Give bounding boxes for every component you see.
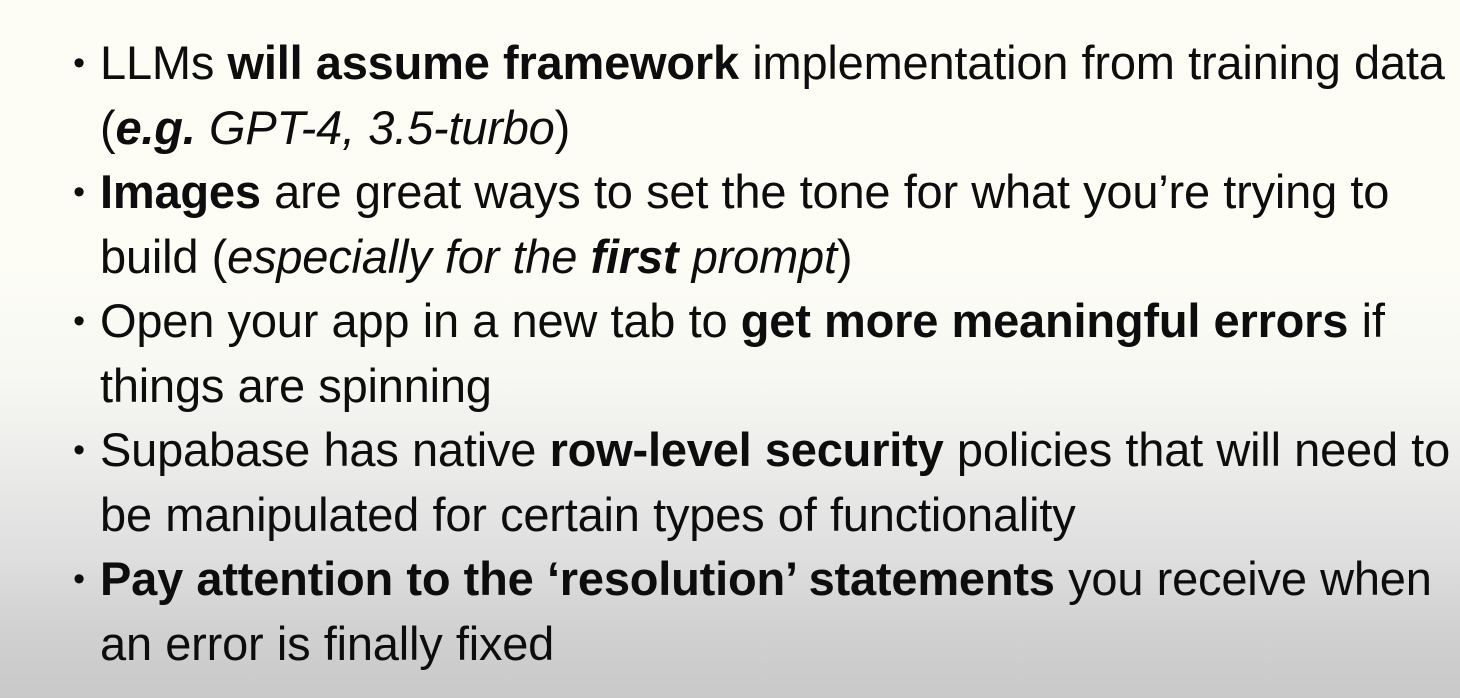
text-run-bold: Images	[100, 165, 261, 218]
text-run-bold: Pay attention to the ‘resolution’ statem…	[100, 552, 1055, 605]
text-run-regular: Supabase has native	[100, 423, 550, 476]
list-item: •Pay attention to the ‘resolution’ state…	[60, 547, 1452, 676]
list-item-text: Images are great ways to set the tone fo…	[100, 160, 1452, 289]
list-item-text: Pay attention to the ‘resolution’ statem…	[100, 547, 1452, 676]
list-item: •Open your app in a new tab to get more …	[60, 289, 1452, 418]
text-run-regular: LLMs	[100, 36, 228, 89]
text-run-regular: Open your app in a new tab to	[100, 294, 741, 347]
bullet-point-icon: •	[68, 547, 90, 612]
text-run-italic: prompt	[678, 230, 836, 283]
text-run-bold-italic: first	[591, 230, 679, 283]
text-run-italic: GPT-4, 3.5-turbo	[196, 101, 555, 154]
text-run-italic: especially for the	[227, 230, 590, 283]
text-run-bold: get more meaningful errors	[741, 294, 1348, 347]
list-item-text: Supabase has native row-level security p…	[100, 418, 1452, 547]
bullet-point-icon: •	[68, 289, 90, 354]
bullet-point-icon: •	[68, 418, 90, 483]
list-item-text: Open your app in a new tab to get more m…	[100, 289, 1452, 418]
list-item: •Supabase has native row-level security …	[60, 418, 1452, 547]
text-run-bold-italic: e.g.	[115, 101, 195, 154]
text-run-bold: row-level security	[550, 423, 944, 476]
slide-canvas: •LLMs will assume framework implementati…	[0, 0, 1460, 698]
list-item-text: LLMs will assume framework implementatio…	[100, 31, 1452, 160]
bullet-point-icon: •	[68, 31, 90, 96]
list-item: •LLMs will assume framework implementati…	[60, 31, 1452, 160]
bullet-point-icon: •	[68, 160, 90, 225]
text-run-regular: )	[555, 101, 570, 154]
list-item: •Images are great ways to set the tone f…	[60, 160, 1452, 289]
text-run-bold: will assume framework	[228, 36, 739, 89]
bullet-list: •LLMs will assume framework implementati…	[60, 31, 1452, 676]
text-run-regular: )	[837, 230, 852, 283]
